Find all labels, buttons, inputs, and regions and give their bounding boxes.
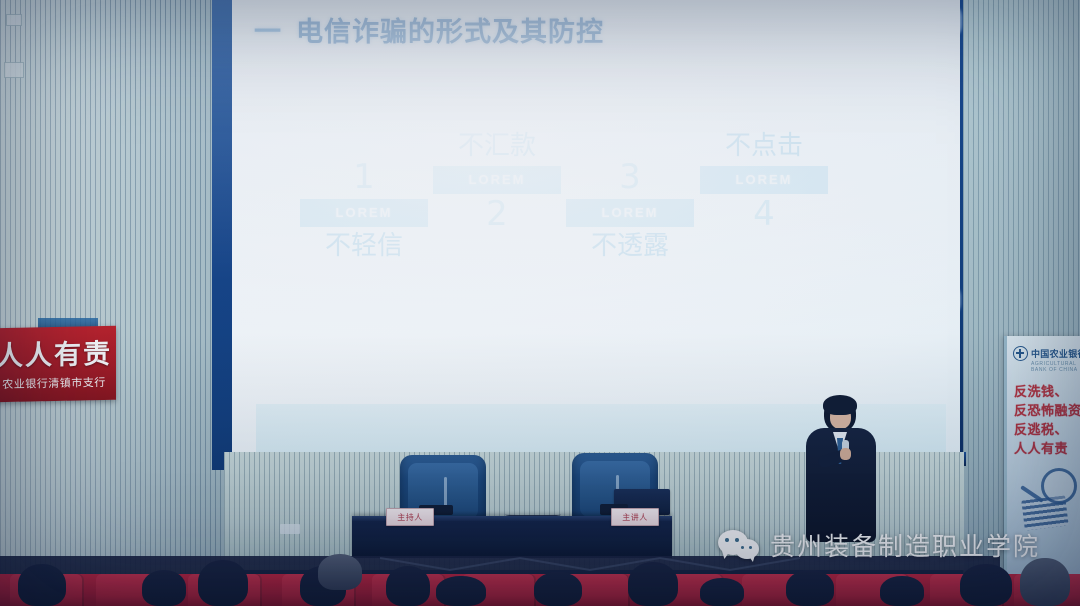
wall-fixture-icon	[6, 14, 22, 26]
banner-headline: 人人有责	[0, 332, 116, 374]
left-slatted-wall	[0, 0, 224, 606]
slide-title-marker: 一	[254, 10, 282, 49]
poster-slogan: 反洗钱、 反恐怖融资、 反逃税、 人人有责	[1014, 384, 1080, 459]
slide-item-badge: LOREM	[566, 199, 694, 227]
poster-header: 中国农业银行	[1013, 346, 1080, 361]
poster-slogan-line: 反洗钱、	[1014, 384, 1080, 403]
audience-head	[960, 564, 1012, 606]
namecard-host: 主持人	[386, 508, 434, 526]
slide-item-label: 不透露	[550, 230, 710, 263]
audience-head	[534, 572, 582, 606]
audience-head	[628, 562, 678, 606]
poster-bank-name: 中国农业银行	[1031, 347, 1080, 360]
audience-head	[880, 576, 924, 606]
audience-head	[198, 560, 248, 606]
audience-head	[1020, 558, 1070, 606]
audience-head	[386, 566, 430, 606]
slide-item-badge: LOREM	[433, 166, 561, 194]
presenter	[800, 396, 882, 542]
banner-subline: 农业银行清镇市支行	[0, 374, 116, 393]
wechat-watermark: 贵州装备制造职业学院	[718, 527, 1040, 563]
audience-head	[142, 570, 186, 606]
table-label	[280, 524, 300, 534]
audience-head	[786, 570, 834, 606]
photo-scene: 一 电信诈骗的形式及其防控 1 LOREM 不轻信 不汇款 LOREM 2 3 …	[0, 0, 1080, 606]
projected-slide: 一 电信诈骗的形式及其防控 1 LOREM 不轻信 不汇款 LOREM 2 3 …	[232, 0, 960, 456]
auditorium-room: 一 电信诈骗的形式及其防控 1 LOREM 不轻信 不汇款 LOREM 2 3 …	[0, 0, 1080, 606]
audience-head	[318, 554, 362, 590]
slide-item-label: 不点击	[684, 130, 844, 163]
red-banner: 人人有责 农业银行清镇市支行	[0, 326, 116, 403]
slide-item-badge: LOREM	[700, 166, 828, 194]
slide-item-4: 不点击 LOREM 4	[684, 130, 844, 232]
slide-item-label: 不汇款	[417, 130, 577, 163]
slide-item-number: 4	[684, 197, 844, 233]
presenter-hair	[823, 395, 857, 415]
audience-head	[700, 578, 744, 606]
wechat-icon	[718, 530, 760, 560]
slide-item-badge: LOREM	[300, 199, 428, 227]
audience-head	[436, 576, 486, 606]
slide-title: 一 电信诈骗的形式及其防控	[254, 10, 604, 49]
watermark-text: 贵州装备制造职业学院	[770, 527, 1040, 563]
poster-bank-sub: AGRICULTURAL BANK OF CHINA	[1031, 361, 1080, 373]
audience-head	[18, 564, 66, 606]
poster-slogan-line: 人人有责	[1014, 441, 1080, 460]
slide-title-text: 电信诈骗的形式及其防控	[296, 10, 604, 49]
presenter-hand	[840, 448, 851, 460]
wall-fixture-icon	[4, 62, 24, 78]
slide-body: 1 LOREM 不轻信 不汇款 LOREM 2 3 LOREM 不透露 不点击 …	[232, 130, 960, 320]
abc-bank-logo-icon	[1013, 346, 1028, 361]
namecard-speaker: 主讲人	[611, 508, 659, 526]
magnifier-icon	[1041, 468, 1077, 504]
poster-slogan-line: 反逃税、	[1014, 422, 1080, 441]
slide-item-label: 不轻信	[284, 230, 444, 263]
poster-slogan-line: 反恐怖融资、	[1014, 403, 1080, 422]
